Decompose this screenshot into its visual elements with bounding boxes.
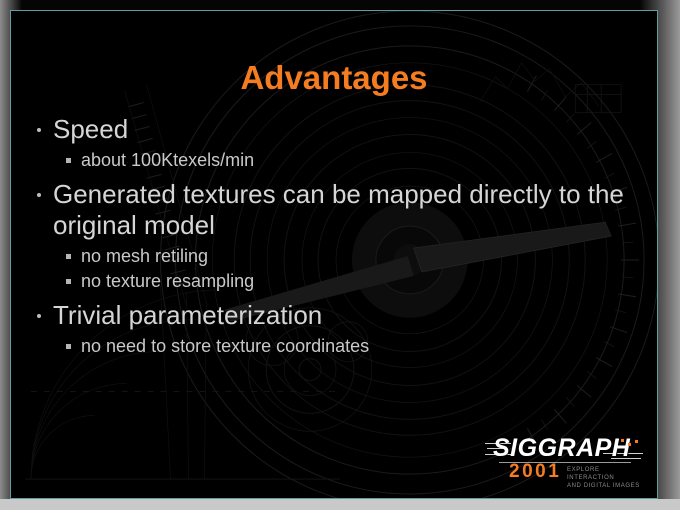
bullet-text: Trivial parameterization <box>53 300 322 330</box>
sub-bullet-item: no need to store texture coordinates <box>53 334 639 359</box>
page-title: Advantages <box>11 59 657 97</box>
slide-viewport: Advantages Speed about 100Ktexels/min Ge… <box>0 0 680 510</box>
bullet-square-icon <box>66 158 71 163</box>
sub-bullet-list: no need to store texture coordinates <box>53 334 639 359</box>
bullet-item: Speed about 100Ktexels/min <box>33 114 639 173</box>
logo-tagline-line-2: AND DIGITAL IMAGES <box>567 482 645 490</box>
sub-bullet-item: no texture resampling <box>53 269 639 294</box>
logo-year: 2001 <box>509 461 561 483</box>
bullet-item: Trivial parameterization no need to stor… <box>33 300 639 359</box>
presentation-slide: Advantages Speed about 100Ktexels/min Ge… <box>10 10 658 499</box>
bullet-square-icon <box>66 344 71 349</box>
sub-bullet-list: about 100Ktexels/min <box>53 148 639 173</box>
bullet-text: Speed <box>53 114 128 144</box>
sub-bullet-text: no need to store texture coordinates <box>81 336 369 356</box>
logo-wordmark: SIGGRAPH <box>493 434 630 463</box>
logo-tagline-line-1: EXPLORE INTERACTION <box>567 466 645 482</box>
sub-bullet-item: no mesh retiling <box>53 244 639 269</box>
bullet-item: Generated textures can be mapped directl… <box>33 179 639 294</box>
bullet-text: Generated textures can be mapped directl… <box>53 179 624 240</box>
viewport-bottom-bar <box>0 499 680 510</box>
sub-bullet-list: no mesh retiling no texture resampling <box>53 244 639 294</box>
bullet-square-icon <box>66 254 71 259</box>
logo-tagline: EXPLORE INTERACTION AND DIGITAL IMAGES <box>567 466 645 490</box>
bullet-dot-icon <box>37 314 41 318</box>
sub-bullet-item: about 100Ktexels/min <box>53 148 639 173</box>
sub-bullet-text: no texture resampling <box>81 271 254 291</box>
logo-spark-icon <box>621 439 643 451</box>
bullet-list: Speed about 100Ktexels/min Generated tex… <box>33 114 639 365</box>
bullet-square-icon <box>66 279 71 284</box>
sub-bullet-text: no mesh retiling <box>81 246 208 266</box>
siggraph-logo: SIGGRAPH 2001 EXPLORE INTERACTION AND DI… <box>485 434 645 486</box>
sub-bullet-text: about 100Ktexels/min <box>81 150 254 170</box>
bullet-dot-icon <box>37 193 41 197</box>
bullet-dot-icon <box>37 128 41 132</box>
